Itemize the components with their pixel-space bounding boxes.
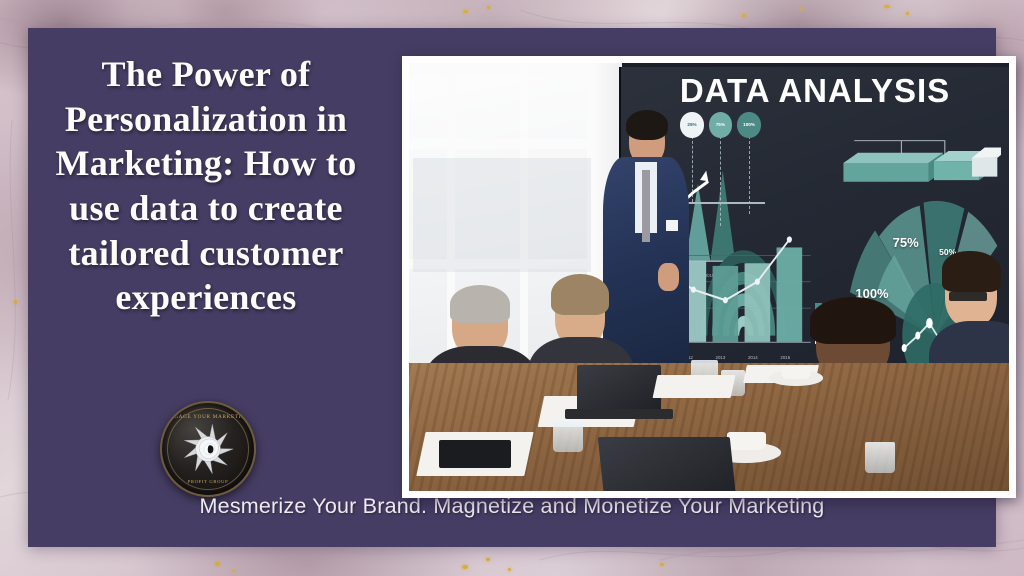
gauge-value-75: 75% bbox=[893, 235, 919, 250]
presenter-tie bbox=[642, 170, 650, 241]
laptop-base bbox=[565, 409, 673, 419]
meeting-photo: DATA ANALYSIS 2014 2015 bbox=[409, 63, 1009, 491]
conference-table-area bbox=[409, 363, 1009, 491]
dark-hair bbox=[942, 251, 1001, 292]
tablet-device bbox=[439, 440, 511, 468]
bar-year-label: 2014 bbox=[748, 355, 758, 360]
presenter-hand bbox=[658, 263, 678, 290]
bar-year-label: 2013 bbox=[716, 355, 726, 360]
glasses-icon bbox=[949, 292, 988, 301]
presenter-hair bbox=[626, 110, 669, 140]
dark-hair bbox=[810, 297, 896, 344]
blonde-hair bbox=[551, 274, 609, 315]
percent-badge: 100% bbox=[737, 112, 760, 137]
brand-logo-badge[interactable]: ENGAGE YOUR MARKETING PROFIT GROUP bbox=[160, 401, 256, 497]
laptop-screen bbox=[577, 365, 661, 411]
water-glass bbox=[865, 442, 895, 473]
paper-sheet bbox=[653, 375, 736, 398]
page-title: The Power of Personalization in Marketin… bbox=[44, 52, 368, 320]
lotus-flower-icon bbox=[177, 418, 239, 480]
title-block: The Power of Personalization in Marketin… bbox=[28, 52, 368, 320]
presenter-pocket-square bbox=[666, 220, 677, 231]
percent-badge: 75% bbox=[709, 112, 732, 137]
screen-title: DATA ANALYSIS bbox=[621, 72, 1009, 110]
photo-frame: DATA ANALYSIS 2014 2015 bbox=[402, 56, 1016, 498]
purple-content-panel: The Power of Personalization in Marketin… bbox=[28, 28, 996, 547]
laptop-screen-foreground bbox=[598, 437, 736, 491]
badge-stem bbox=[720, 136, 721, 226]
coffee-cup bbox=[727, 432, 766, 450]
water-glass bbox=[553, 419, 583, 452]
grey-hair bbox=[450, 285, 510, 324]
coffee-cup bbox=[781, 365, 811, 379]
